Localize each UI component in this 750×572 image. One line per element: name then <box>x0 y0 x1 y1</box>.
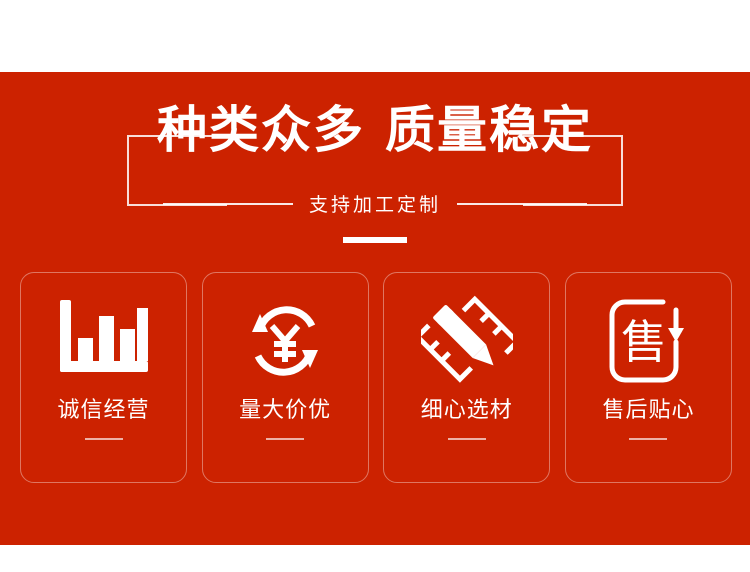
section-divider-bar <box>343 237 407 243</box>
subtitle-rule-left <box>163 203 293 205</box>
feature-card-label: 诚信经营 <box>57 397 149 425</box>
feature-card-underline <box>85 438 123 440</box>
bar-chart-icon <box>58 287 150 395</box>
feature-card-underline <box>266 438 304 440</box>
feature-card-underline <box>629 438 667 440</box>
pencil-ruler-icon <box>421 287 513 395</box>
feature-card-label: 售后贴心 <box>602 397 694 425</box>
feature-card-after-sales[interactable]: 售 售后贴心 <box>565 272 732 483</box>
feature-card-list: 诚信经营 <box>20 272 732 483</box>
feature-card-label: 细心选材 <box>421 397 513 425</box>
headline: 种类众多质量稳定 <box>0 95 750 165</box>
subtitle-row: 支持加工定制 <box>0 190 750 217</box>
feature-card-label: 量大价优 <box>239 397 331 425</box>
yuan-circular-arrows-icon <box>240 287 330 395</box>
feature-card-material-selection[interactable]: 细心选材 <box>383 272 550 483</box>
headline-part-2: 质量稳定 <box>385 101 593 159</box>
headline-part-1: 种类众多 <box>157 101 365 159</box>
after-sales-badge-icon: 售 <box>605 287 691 395</box>
svg-text:售: 售 <box>621 315 667 369</box>
promo-banner: 种类众多质量稳定 支持加工定制 诚信经营 <box>0 0 750 572</box>
feature-card-bulk-price[interactable]: 量大价优 <box>202 272 369 483</box>
subtitle: 支持加工定制 <box>309 190 441 217</box>
subtitle-rule-right <box>457 203 587 205</box>
feature-card-integrity[interactable]: 诚信经营 <box>20 272 187 483</box>
feature-card-underline <box>448 438 486 440</box>
